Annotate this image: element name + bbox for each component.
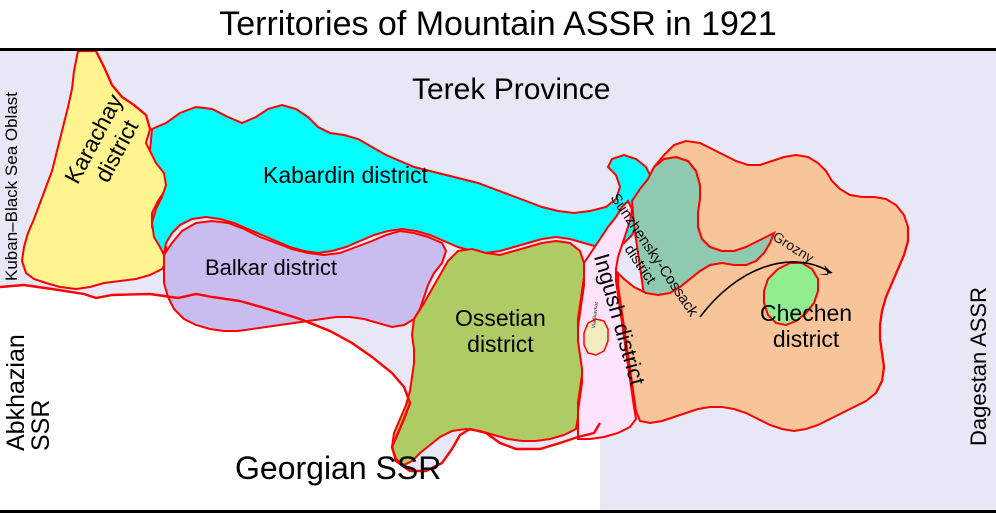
- map-figure: Territories of Mountain ASSR in 1921: [0, 0, 996, 513]
- map-canvas: Terek Province Kabardin district Balkar …: [0, 48, 996, 513]
- title-bar: Territories of Mountain ASSR in 1921: [0, 0, 996, 48]
- page-title: Territories of Mountain ASSR in 1921: [219, 5, 777, 44]
- city-vladikavkaz-area: [584, 319, 608, 355]
- map-vector-layer: [0, 51, 996, 510]
